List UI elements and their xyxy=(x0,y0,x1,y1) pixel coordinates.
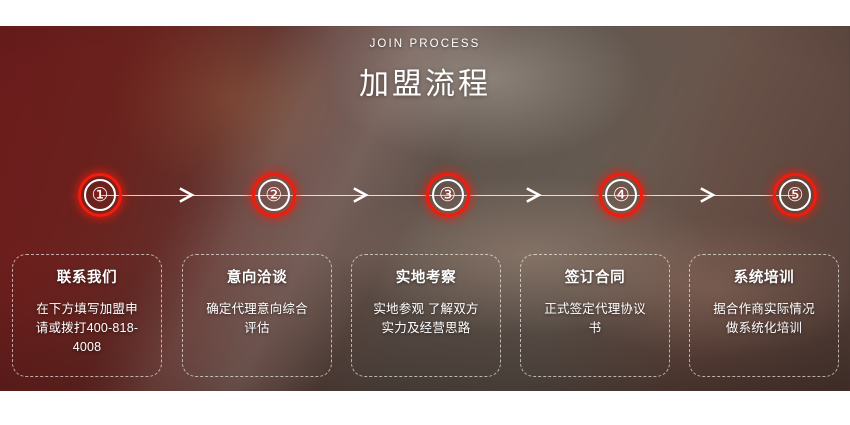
step-marker-inner-ring: ③ xyxy=(432,179,464,211)
card-title-1: 联系我们 xyxy=(23,268,151,288)
process-stepper: ① ② ③ ④ ⑤ xyxy=(0,173,850,219)
step-marker-5[interactable]: ⑤ xyxy=(773,173,817,217)
page-canvas: JOIN PROCESS 加盟流程 ① ② ③ ④ ⑤ xyxy=(0,0,850,425)
step-number-1: ① xyxy=(91,186,108,205)
process-card-3[interactable]: 实地考察 实地参观 了解双方实力及经营思路 xyxy=(351,254,501,377)
card-title-5: 系统培训 xyxy=(700,268,828,288)
step-marker-4[interactable]: ④ xyxy=(599,173,643,217)
chevron-right-icon xyxy=(351,186,371,204)
step-marker-inner-ring: ⑤ xyxy=(779,179,811,211)
step-number-3: ③ xyxy=(439,186,456,205)
card-body-4: 正式签定代理协议书 xyxy=(531,300,659,338)
step-marker-2[interactable]: ② xyxy=(252,173,296,217)
step-number-5: ⑤ xyxy=(786,186,803,205)
process-card-5[interactable]: 系统培训 据合作商实际情况 做系统化培训 xyxy=(689,254,839,377)
section-header: JOIN PROCESS 加盟流程 xyxy=(0,36,850,105)
process-card-1[interactable]: 联系我们 在下方填写加盟申请或拨打400-818-4008 xyxy=(12,254,162,377)
card-title-2: 意向洽谈 xyxy=(193,268,321,288)
card-title-3: 实地考察 xyxy=(362,268,490,288)
process-card-4[interactable]: 签订合同 正式签定代理协议书 xyxy=(520,254,670,377)
step-marker-3[interactable]: ③ xyxy=(426,173,470,217)
card-body-2: 确定代理意向综合评估 xyxy=(193,300,321,338)
step-marker-inner-ring: ② xyxy=(258,179,290,211)
card-body-3: 实地参观 了解双方实力及经营思路 xyxy=(362,300,490,338)
card-body-1: 在下方填写加盟申请或拨打400-818-4008 xyxy=(23,300,151,357)
process-cards: 联系我们 在下方填写加盟申请或拨打400-818-4008 意向洽谈 确定代理意… xyxy=(0,254,850,378)
section-eyebrow: JOIN PROCESS xyxy=(0,36,850,52)
step-number-4: ④ xyxy=(613,186,630,205)
chevron-right-icon xyxy=(698,186,718,204)
step-marker-inner-ring: ④ xyxy=(605,179,637,211)
card-body-5: 据合作商实际情况 做系统化培训 xyxy=(700,300,828,338)
chevron-right-icon xyxy=(177,186,197,204)
page-title: 加盟流程 xyxy=(0,65,850,105)
process-card-2[interactable]: 意向洽谈 确定代理意向综合评估 xyxy=(182,254,332,377)
step-marker-1[interactable]: ① xyxy=(78,173,122,217)
card-title-4: 签订合同 xyxy=(531,268,659,288)
step-marker-inner-ring: ① xyxy=(84,179,116,211)
chevron-right-icon xyxy=(524,186,544,204)
step-number-2: ② xyxy=(265,186,282,205)
